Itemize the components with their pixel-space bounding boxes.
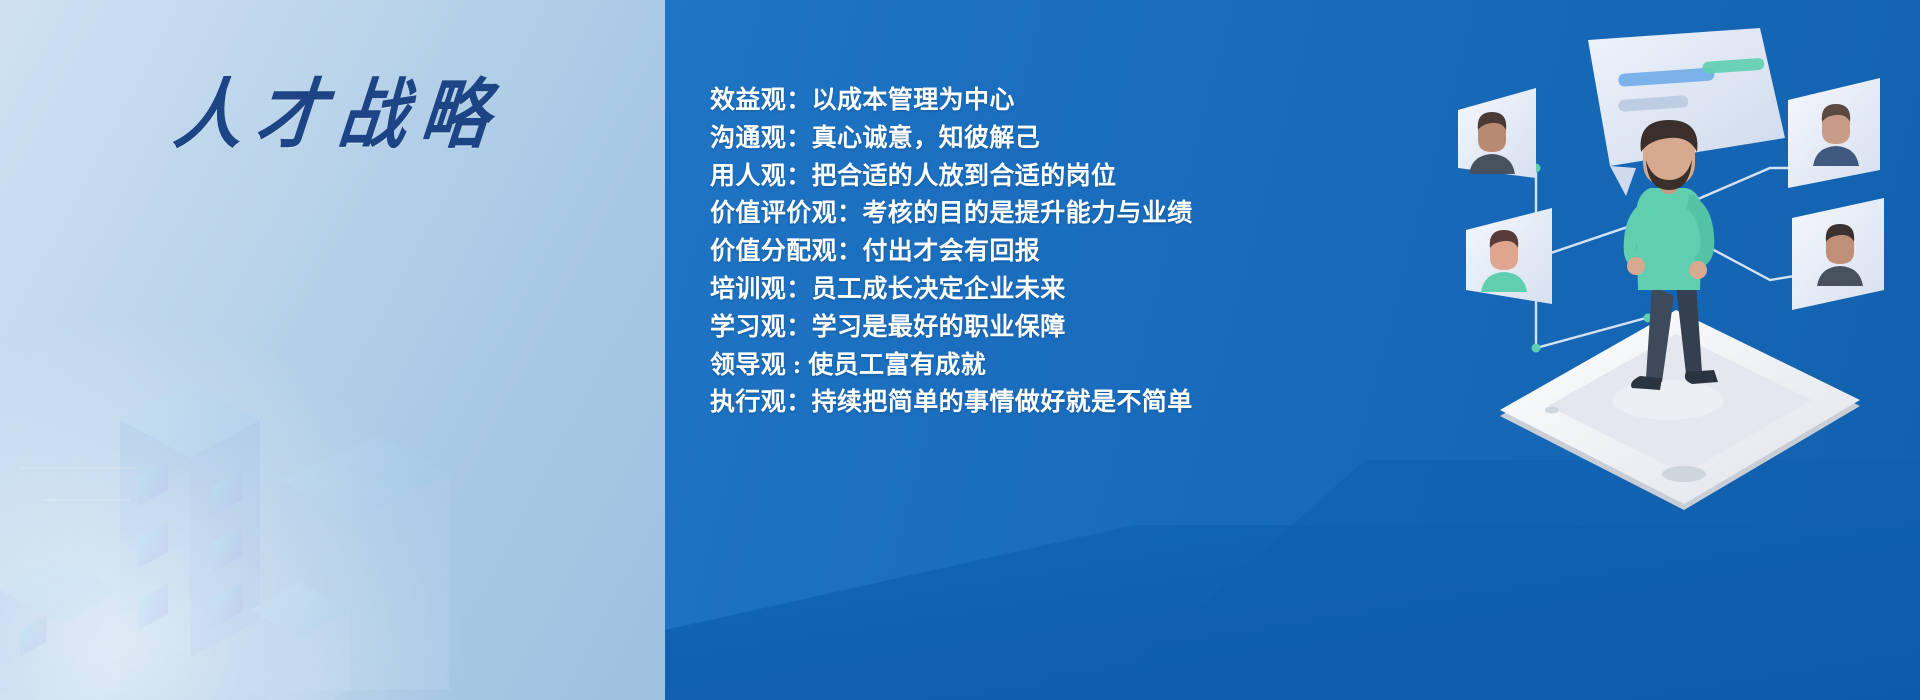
title-container: 人才战略 [0,0,665,230]
values-list: 效益观：以成本管理为中心 沟通观：真心诚意，知彼解己 用人观：把合适的人放到合适… [710,82,1370,422]
left-panel: 人才战略 [0,0,665,700]
hand-left [1627,257,1645,275]
value-line: 价值分配观：付出才会有回报 [710,233,1370,271]
isometric-teamwork-illustration [1440,18,1910,518]
avatar-card-bottom-left [1466,208,1552,304]
value-line: 价值评价观：考核的目的是提升能力与业绩 [710,195,1370,233]
value-line: 执行观：持续把简单的事情做好就是不简单 [710,384,1370,422]
value-line: 用人观：把合适的人放到合适的岗位 [710,158,1370,196]
right-panel: 效益观：以成本管理为中心 沟通观：真心诚意，知彼解己 用人观：把合适的人放到合适… [665,0,1920,700]
avatar-card-bottom-right [1792,198,1884,310]
shoe-right [1685,370,1718,384]
value-line: 学习观：学习是最好的职业保障 [710,309,1370,347]
speaker-dot [1545,407,1559,414]
page-title: 人才战略 [157,77,507,153]
talent-strategy-banner: 人才战略 效益观：以成本管理为中心 沟通观：真心诚意，知彼解己 用人观：把合适的… [0,0,1920,700]
value-line: 领导观 : 使员工富有成就 [710,347,1370,385]
value-line: 培训观：员工成长决定企业未来 [710,271,1370,309]
hand-right [1689,261,1707,279]
avatar-card-top-left [1458,88,1536,178]
home-button [1662,466,1706,482]
value-line: 效益观：以成本管理为中心 [710,82,1370,120]
value-line: 沟通观：真心诚意，知彼解己 [710,120,1370,158]
avatar-card-top-right [1788,78,1880,188]
isometric-city-illustration [0,290,450,700]
